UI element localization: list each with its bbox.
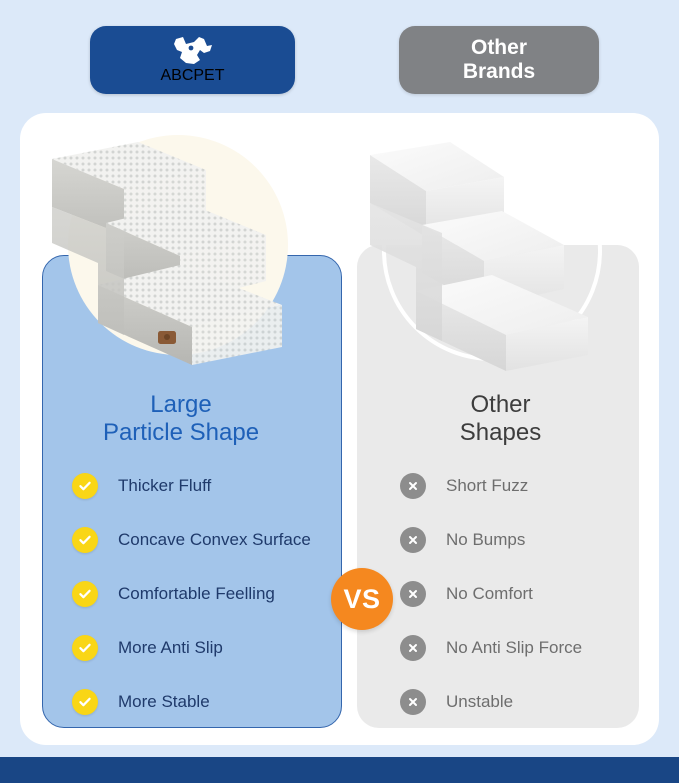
list-item: Comfortable Feelling <box>20 567 342 621</box>
feature-label: Concave Convex Surface <box>118 530 311 550</box>
list-item: Short Fuzz <box>342 459 659 513</box>
list-item: Concave Convex Surface <box>20 513 342 567</box>
header-badges: ABCPET Other Brands <box>0 0 679 113</box>
brand-name: ABCPET <box>160 67 224 85</box>
product-image-textured-stairs <box>20 125 342 383</box>
other-brands-badge: Other Brands <box>399 26 599 94</box>
bottom-band <box>0 757 679 783</box>
product-feature-list: Thicker Fluff Concave Convex Surface Com… <box>20 459 342 729</box>
vs-label: VS <box>343 586 380 613</box>
feature-label: Short Fuzz <box>446 476 528 496</box>
cross-icon <box>400 527 426 553</box>
list-item: Thicker Fluff <box>20 459 342 513</box>
check-icon <box>72 635 98 661</box>
cross-icon <box>400 689 426 715</box>
vs-badge: VS <box>331 568 393 630</box>
other-heading-line-2: Shapes <box>342 419 659 447</box>
dog-head-icon <box>170 36 216 67</box>
list-item: Unstable <box>342 675 659 729</box>
list-item: No Anti Slip Force <box>342 621 659 675</box>
product-heading-line-2: Particle Shape <box>20 419 342 447</box>
other-heading-line-1: Other <box>342 391 659 419</box>
feature-label: Unstable <box>446 692 513 712</box>
comparison-card: Large Particle Shape Thicker Fluff Conca… <box>20 113 659 745</box>
check-icon <box>72 473 98 499</box>
product-heading-line-1: Large <box>20 391 342 419</box>
cross-icon <box>400 473 426 499</box>
feature-label: No Anti Slip Force <box>446 638 582 658</box>
feature-label: No Bumps <box>446 530 525 550</box>
list-item: More Anti Slip <box>20 621 342 675</box>
list-item: More Stable <box>20 675 342 729</box>
product-heading: Large Particle Shape <box>20 391 342 448</box>
other-brands-line-1: Other <box>471 36 527 60</box>
product-column: Large Particle Shape Thicker Fluff Conca… <box>20 113 342 745</box>
cross-icon <box>400 635 426 661</box>
other-image-plain-stairs <box>342 125 659 383</box>
list-item: No Bumps <box>342 513 659 567</box>
feature-label: Comfortable Feelling <box>118 584 275 604</box>
brand-badge-abcpet: ABCPET <box>90 26 295 94</box>
check-icon <box>72 527 98 553</box>
check-icon <box>72 689 98 715</box>
cross-icon <box>400 581 426 607</box>
other-brands-line-2: Brands <box>463 60 535 84</box>
other-heading: Other Shapes <box>342 391 659 448</box>
feature-label: More Anti Slip <box>118 638 223 658</box>
feature-label: More Stable <box>118 692 210 712</box>
other-column: Other Shapes Short Fuzz No Bumps <box>342 113 659 745</box>
feature-label: No Comfort <box>446 584 533 604</box>
feature-label: Thicker Fluff <box>118 476 211 496</box>
check-icon <box>72 581 98 607</box>
